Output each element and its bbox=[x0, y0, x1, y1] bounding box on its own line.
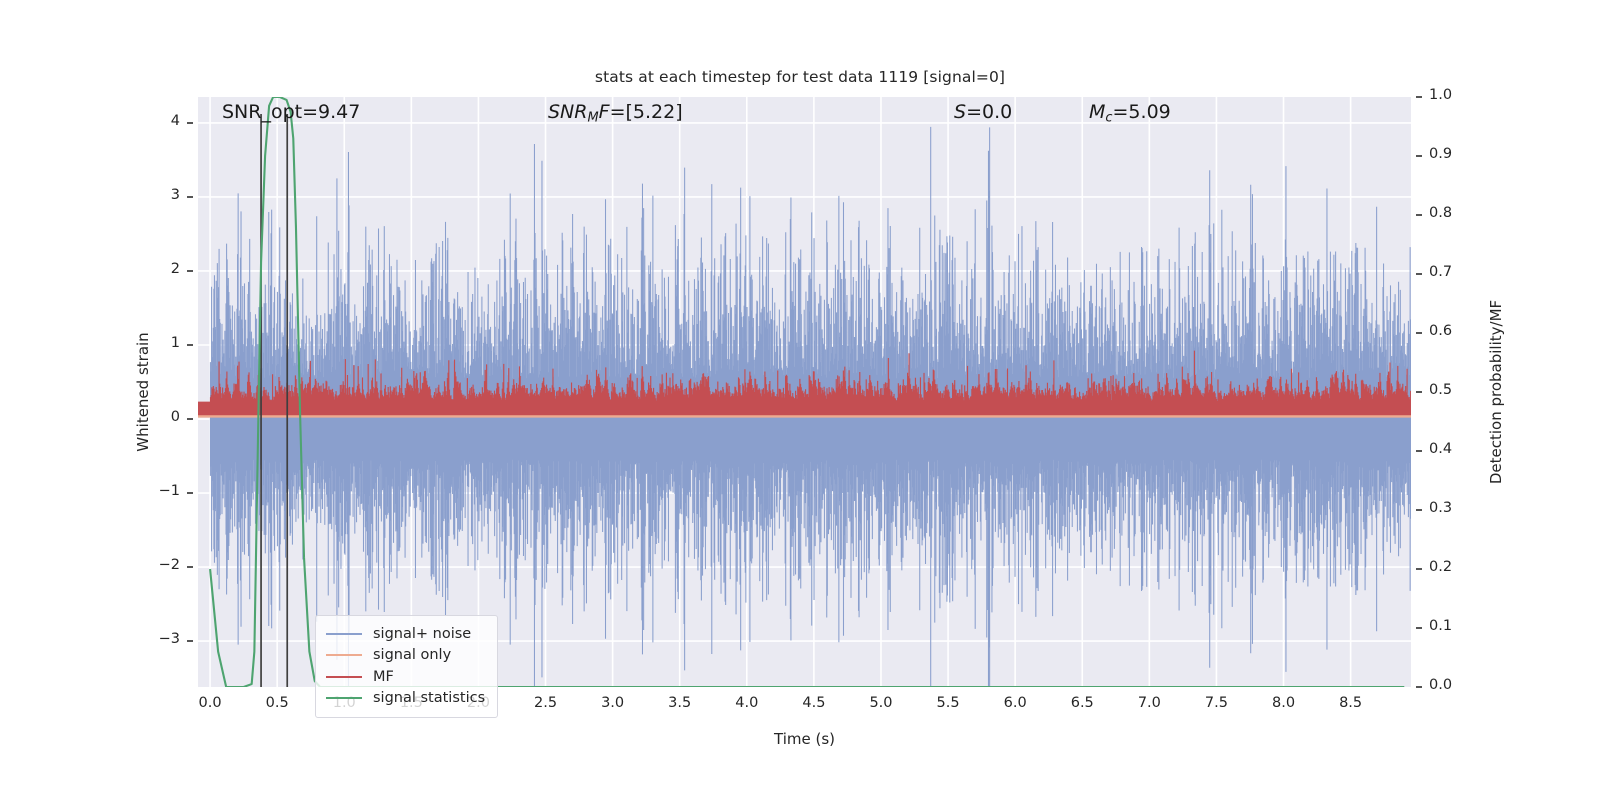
legend-item-label: MF bbox=[373, 669, 394, 685]
x-axis-tick-label: 5.5 bbox=[918, 695, 978, 711]
x-axis-tick-label: 6.0 bbox=[985, 695, 1045, 711]
x-axis-label: Time (s) bbox=[198, 730, 1411, 748]
y-axis-right-tickmark bbox=[1416, 332, 1422, 333]
y-axis-right-tick-label: 0.4 bbox=[1429, 441, 1489, 457]
y-axis-right-tick-label: 1.0 bbox=[1429, 87, 1489, 103]
y-axis-right-tick-label: 0.1 bbox=[1429, 618, 1489, 634]
y-axis-left-tickmark bbox=[187, 566, 193, 567]
y-axis-right-tick-label: 0.7 bbox=[1429, 264, 1489, 280]
x-axis-tick-label: 4.5 bbox=[784, 695, 844, 711]
annotation-snr-mf: SNRMF=[5.22] bbox=[548, 101, 683, 126]
y-axis-right-tick-label: 0.6 bbox=[1429, 323, 1489, 339]
legend-swatch-line-icon bbox=[326, 697, 362, 699]
legend-item[interactable]: signal statistics bbox=[326, 688, 485, 710]
annotation-snr-opt: SNR_opt=9.47 bbox=[222, 101, 360, 123]
x-axis-tick-label: 3.5 bbox=[650, 695, 710, 711]
x-axis-tick-label: 5.0 bbox=[851, 695, 911, 711]
annotation-chirp-mass: Mc=5.09 bbox=[1089, 101, 1171, 126]
page-title: stats at each timestep for test data 111… bbox=[0, 68, 1600, 86]
y-axis-left-tickmark bbox=[187, 344, 193, 345]
y-axis-left-tickmark bbox=[187, 196, 193, 197]
y-axis-right-tick-label: 0.0 bbox=[1429, 677, 1489, 693]
y-axis-right-tickmark bbox=[1416, 96, 1422, 97]
y-axis-right-tickmark bbox=[1416, 450, 1422, 451]
y-axis-right-tickmark bbox=[1416, 627, 1422, 628]
legend-swatch-line-icon bbox=[326, 633, 362, 635]
y-axis-left-tickmark bbox=[187, 270, 193, 271]
legend-item-label: signal+ noise bbox=[373, 626, 471, 642]
figure-canvas: stats at each timestep for test data 111… bbox=[0, 0, 1600, 800]
legend-item-label: signal statistics bbox=[373, 690, 485, 706]
x-axis-tick-label: 2.5 bbox=[516, 695, 576, 711]
legend-item[interactable]: MF bbox=[326, 666, 485, 688]
x-axis-tick-label: 3.0 bbox=[583, 695, 643, 711]
x-axis-tick-label: 6.5 bbox=[1052, 695, 1112, 711]
y-axis-right-tick-label: 0.2 bbox=[1429, 559, 1489, 575]
y-axis-right-tickmark bbox=[1416, 273, 1422, 274]
y-axis-right-tickmark bbox=[1416, 568, 1422, 569]
y-axis-right-tickmark bbox=[1416, 214, 1422, 215]
y-axis-right-tick-label: 0.5 bbox=[1429, 382, 1489, 398]
annotation-s-stat: S=0.0 bbox=[954, 101, 1012, 123]
y-axis-left-tickmark bbox=[187, 418, 193, 419]
legend[interactable]: signal+ noisesignal onlyMFsignal statist… bbox=[315, 615, 498, 718]
y-axis-right-tickmark bbox=[1416, 391, 1422, 392]
y-axis-left-tickmark bbox=[187, 122, 193, 123]
y-axis-left-tickmark bbox=[187, 492, 193, 493]
y-axis-left-tickmark bbox=[187, 640, 193, 641]
y-axis-right-tickmark bbox=[1416, 155, 1422, 156]
legend-swatch-line-icon bbox=[326, 654, 362, 656]
y-axis-right-tickmark bbox=[1416, 509, 1422, 510]
y-axis-right-tick-label: 0.8 bbox=[1429, 205, 1489, 221]
y-axis-right-tick-label: 0.9 bbox=[1429, 146, 1489, 162]
plot-area[interactable] bbox=[198, 97, 1411, 687]
legend-item-label: signal only bbox=[373, 647, 451, 663]
x-axis-tick-label: 8.5 bbox=[1321, 695, 1381, 711]
x-axis-tick-label: 8.0 bbox=[1254, 695, 1314, 711]
y-axis-right-label: Detection probability/MF bbox=[1487, 97, 1517, 687]
legend-item[interactable]: signal only bbox=[326, 645, 485, 667]
legend-swatch-line-icon bbox=[326, 676, 362, 678]
x-axis-tick-label: 7.5 bbox=[1186, 695, 1246, 711]
y-axis-right-tickmark bbox=[1416, 686, 1422, 687]
x-axis-tick-label: 0.0 bbox=[180, 695, 240, 711]
x-axis-tick-label: 4.0 bbox=[717, 695, 777, 711]
y-axis-left-label: Whitened strain bbox=[134, 97, 164, 687]
legend-item[interactable]: signal+ noise bbox=[326, 623, 485, 645]
plot-svg bbox=[198, 97, 1411, 687]
y-axis-right-tick-label: 0.3 bbox=[1429, 500, 1489, 516]
x-axis-tick-label: 7.0 bbox=[1119, 695, 1179, 711]
x-axis-tick-label: 0.5 bbox=[247, 695, 307, 711]
